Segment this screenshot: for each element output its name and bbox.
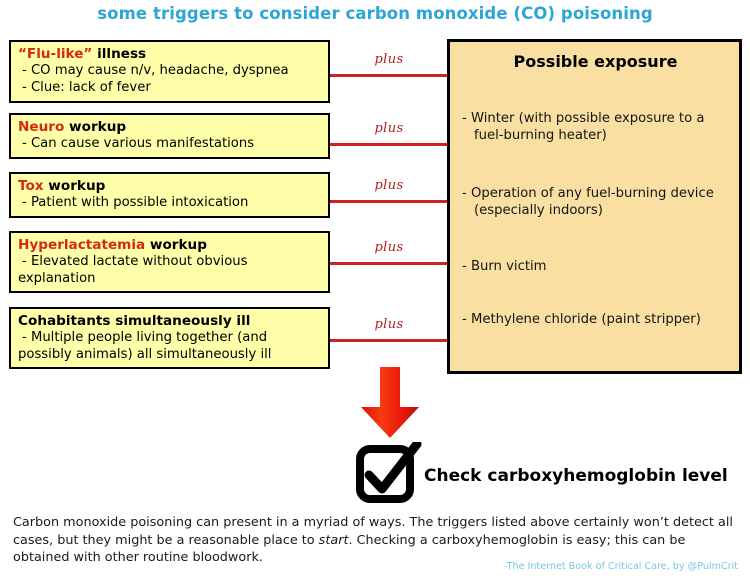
trigger-detail-line: explanation: [18, 271, 322, 288]
connector-label-plus: plus: [330, 317, 448, 332]
exposure-panel-title: Possible exposure: [462, 52, 729, 71]
trigger-box-tox: Tox workup - Patient with possible intox…: [9, 172, 330, 218]
trigger-detail-line: - Multiple people living together (and: [18, 330, 322, 347]
checkbox-checked-icon[interactable]: [355, 442, 423, 504]
trigger-detail-line: - Elevated lactate without obvious: [18, 254, 322, 271]
trigger-heading: “Flu-like” illness: [18, 46, 322, 63]
trigger-heading-rest: workup: [64, 119, 126, 135]
trigger-heading: Hyperlactatemia workup: [18, 237, 322, 254]
connector-label-plus: plus: [330, 240, 448, 255]
trigger-heading: Neuro workup: [18, 119, 322, 136]
connector-line: [330, 262, 448, 265]
trigger-heading-rest: workup: [44, 178, 106, 194]
exposure-item: - Winter (with possible exposure to a fu…: [462, 110, 729, 144]
trigger-detail-line: - Clue: lack of fever: [18, 80, 322, 97]
connector-label-plus: plus: [330, 121, 448, 136]
down-arrow-icon: [358, 367, 422, 439]
trigger-heading-rest: illness: [92, 46, 146, 62]
trigger-keyword: Hyperlactatemia: [18, 237, 145, 253]
trigger-heading: Tox workup: [18, 178, 322, 195]
exposure-item: - Methylene chloride (paint stripper): [462, 311, 729, 328]
attribution-line: -The Internet Book of Critical Care, by …: [504, 561, 738, 572]
possible-exposure-panel: Possible exposure - Winter (with possibl…: [447, 39, 742, 374]
trigger-heading-rest: workup: [145, 237, 207, 253]
trigger-box-neuro: Neuro workup - Can cause various manifes…: [9, 113, 330, 159]
trigger-keyword: Tox: [18, 178, 44, 194]
connector-line: [330, 339, 448, 342]
trigger-heading: Cohabitants simultaneously ill: [18, 313, 322, 330]
trigger-box-hyperlactatemia: Hyperlactatemia workup - Elevated lactat…: [9, 231, 330, 293]
connector-line: [330, 143, 448, 146]
trigger-detail-line: possibly animals) all simultaneously ill: [18, 347, 322, 364]
connector-label-plus: plus: [330, 52, 448, 67]
connector-label-plus: plus: [330, 178, 448, 193]
trigger-box-cohabitants: Cohabitants simultaneously ill - Multipl…: [9, 307, 330, 369]
trigger-detail-line: - Patient with possible intoxication: [18, 195, 322, 212]
trigger-keyword: “Flu-like”: [18, 46, 92, 62]
footer-emphasis: start: [319, 533, 349, 548]
trigger-heading-rest: Cohabitants simultaneously ill: [18, 313, 250, 329]
trigger-keyword: Neuro: [18, 119, 64, 135]
conclusion-label: Check carboxyhemoglobin level: [424, 466, 728, 486]
exposure-item: - Operation of any fuel-burning device (…: [462, 185, 729, 219]
page-title: some triggers to consider carbon monoxid…: [0, 4, 750, 23]
footer-paragraph: Carbon monoxide poisoning can present in…: [13, 514, 735, 567]
trigger-box-flu-like: “Flu-like” illness - CO may cause n/v, h…: [9, 40, 330, 103]
exposure-item: - Burn victim: [462, 258, 729, 275]
connector-line: [330, 74, 448, 77]
trigger-detail-line: - Can cause various manifestations: [18, 136, 322, 153]
trigger-detail-line: - CO may cause n/v, headache, dyspnea: [18, 63, 322, 80]
connector-line: [330, 200, 448, 203]
